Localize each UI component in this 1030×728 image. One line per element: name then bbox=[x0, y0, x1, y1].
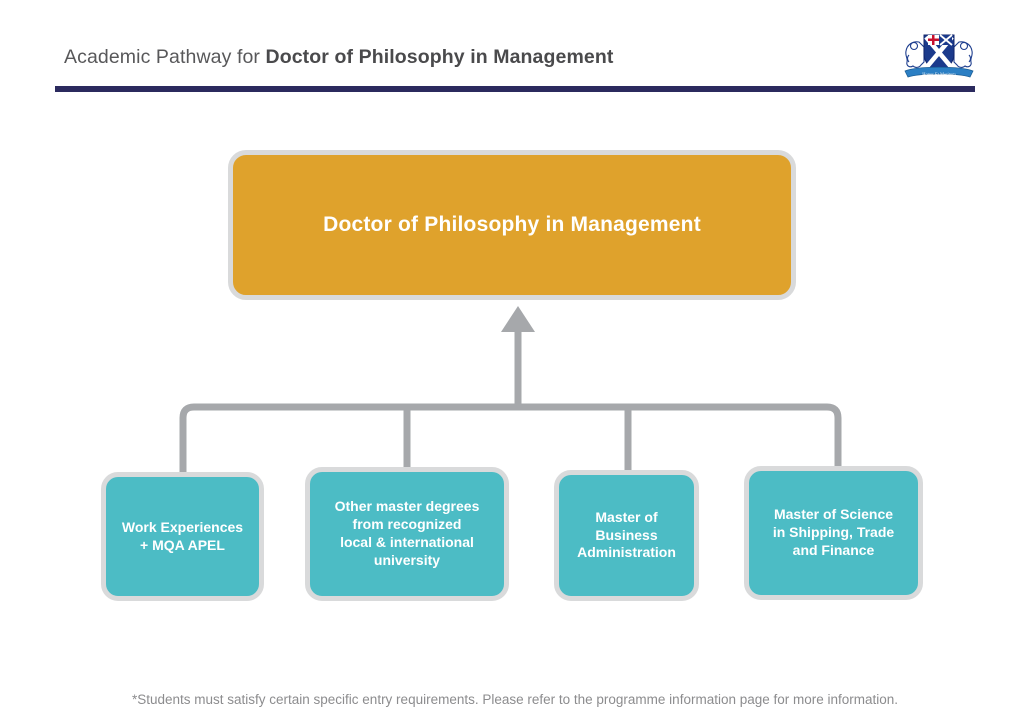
footnote-text: *Students must satisfy certain specific … bbox=[0, 692, 1030, 707]
node-other-master-degrees[interactable]: Other master degrees from recognized loc… bbox=[305, 467, 509, 601]
connector-horizontal-bus bbox=[183, 407, 838, 474]
page-title-program: Doctor of Philosophy in Management bbox=[266, 46, 614, 68]
line: + MQA APEL bbox=[140, 537, 225, 553]
crest-icon: Honor Et Meritum bbox=[897, 25, 981, 81]
line: university bbox=[374, 552, 440, 568]
line: in Shipping, Trade bbox=[773, 524, 894, 540]
university-crest-logo: Honor Et Meritum bbox=[897, 25, 981, 81]
line: local & international bbox=[340, 534, 474, 550]
line: Work Experiences bbox=[122, 519, 243, 535]
page-title-prefix: Academic Pathway for bbox=[64, 46, 266, 68]
node-master-of-science-shipping-trade-finance[interactable]: Master of Science in Shipping, Trade and… bbox=[744, 466, 923, 600]
node-master-of-business-administration[interactable]: Master of Business Administration bbox=[554, 470, 699, 601]
line: Master of bbox=[595, 509, 657, 525]
node-work-experiences-mqa-apel-label: Work Experiences + MQA APEL bbox=[114, 519, 251, 555]
page-title: Academic Pathway for Doctor of Philosoph… bbox=[64, 46, 613, 69]
header-divider-rule bbox=[55, 86, 975, 92]
connector-arrowhead-up bbox=[501, 306, 535, 332]
line: Administration bbox=[577, 544, 676, 560]
node-work-experiences-mqa-apel[interactable]: Work Experiences + MQA APEL bbox=[101, 472, 264, 601]
node-phd-management-label: Doctor of Philosophy in Management bbox=[315, 212, 709, 239]
node-master-of-business-administration-label: Master of Business Administration bbox=[569, 509, 684, 563]
line: Other master degrees bbox=[335, 498, 480, 514]
node-master-of-science-shipping-trade-finance-label: Master of Science in Shipping, Trade and… bbox=[765, 506, 902, 560]
crest-motto-text: Honor Et Meritum bbox=[922, 72, 956, 77]
line: from recognized bbox=[353, 516, 462, 532]
node-phd-management[interactable]: Doctor of Philosophy in Management bbox=[228, 150, 796, 300]
flow-connectors bbox=[0, 0, 1030, 728]
pathway-diagram-page: Academic Pathway for Doctor of Philosoph… bbox=[0, 0, 1030, 728]
node-other-master-degrees-label: Other master degrees from recognized loc… bbox=[327, 498, 488, 570]
line: Master of Science bbox=[774, 506, 893, 522]
line: Business bbox=[595, 527, 657, 543]
line: and Finance bbox=[793, 542, 875, 558]
